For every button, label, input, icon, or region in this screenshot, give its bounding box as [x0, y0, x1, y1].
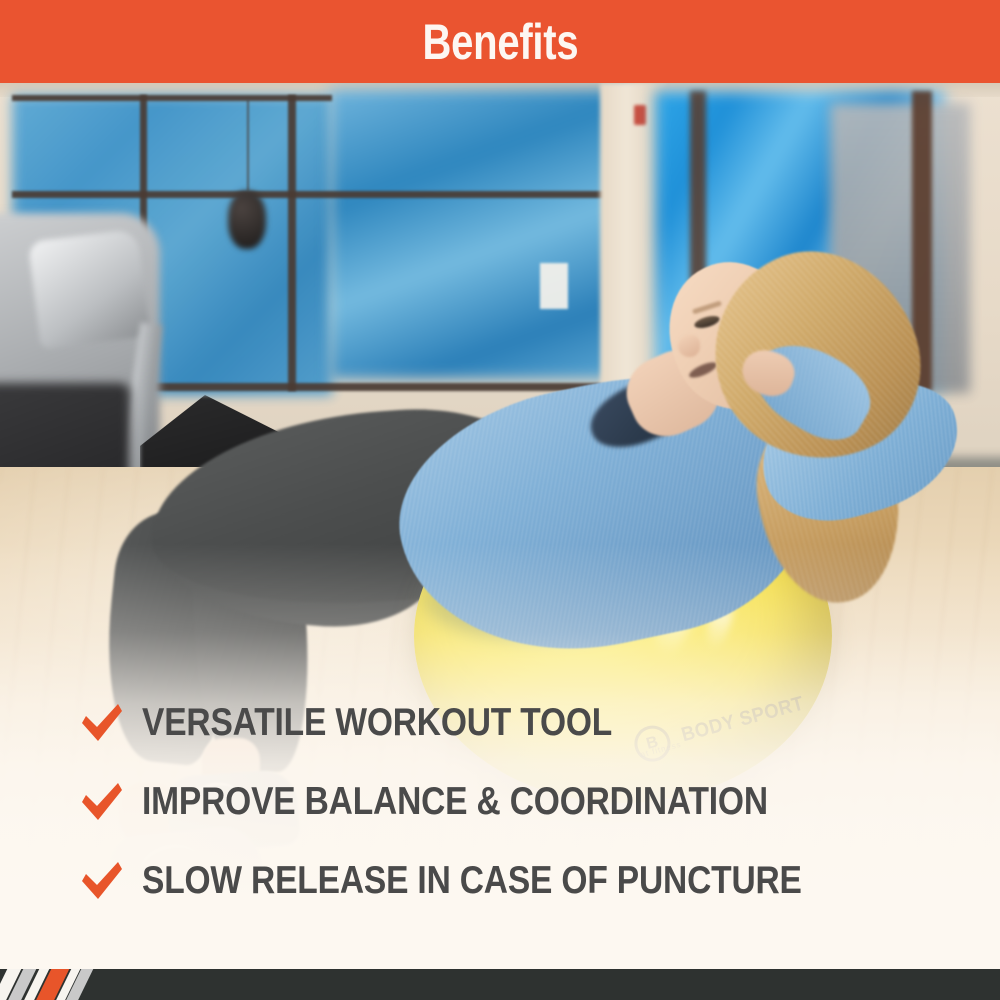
benefit-item: VERSATILE WORKOUT TOOL [0, 683, 1000, 762]
fire-alarm [634, 105, 646, 125]
window-mullion [12, 191, 632, 198]
page-title: Benefits [422, 17, 578, 67]
window-glass-mid [330, 89, 630, 379]
check-icon [76, 782, 128, 822]
window-mullion [288, 95, 296, 391]
benefit-item: IMPROVE BALANCE & COORDINATION [0, 762, 1000, 841]
benefit-item: SLOW RELEASE IN CASE OF PUNCTURE [0, 841, 1000, 920]
machine-seat [28, 229, 150, 350]
nose [678, 335, 700, 357]
wall-sign [540, 263, 568, 309]
benefit-label: IMPROVE BALANCE & COORDINATION [142, 782, 768, 821]
check-icon [76, 703, 128, 743]
benefits-infographic: Benefits [0, 0, 1000, 1000]
window-mullion [12, 95, 332, 101]
hanging-weight [228, 191, 266, 249]
footer-bar [0, 969, 1000, 1000]
benefits-list: VERSATILE WORKOUT TOOL IMPROVE BALANCE &… [0, 683, 1000, 920]
benefit-label: SLOW RELEASE IN CASE OF PUNCTURE [142, 861, 802, 900]
check-icon [76, 861, 128, 901]
header-banner: Benefits [0, 0, 1000, 83]
cable-line [247, 99, 249, 191]
benefit-label: VERSATILE WORKOUT TOOL [142, 703, 612, 742]
